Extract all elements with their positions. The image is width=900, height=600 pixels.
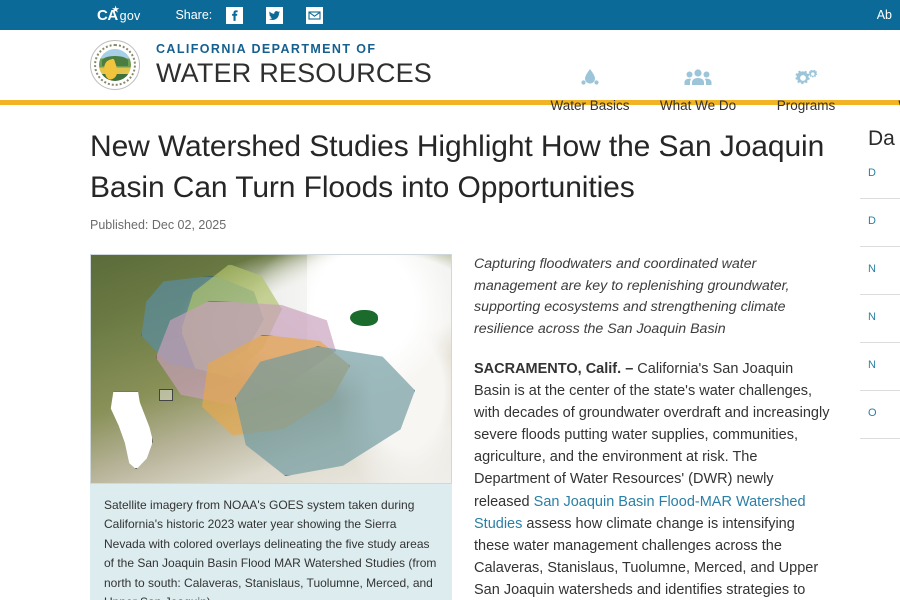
list-item-date: D — [868, 215, 900, 227]
sidebar-title: Da — [860, 127, 900, 151]
article-content: New Watershed Studies Highlight How the … — [0, 105, 860, 600]
nav-label-programs: Programs — [752, 98, 860, 113]
nav-item-programs[interactable]: Programs — [752, 66, 860, 113]
list-item-date: D — [868, 167, 900, 179]
article-text-column: Capturing floodwaters and coordinated wa… — [474, 254, 846, 600]
article-figure: Satellite imagery from NOAA's GOES syste… — [90, 254, 452, 600]
article-body: Satellite imagery from NOAA's GOES syste… — [90, 254, 860, 600]
list-item[interactable]: N — [860, 343, 900, 391]
list-item-date: N — [868, 263, 900, 275]
nav-item-water-basics[interactable]: Water Basics — [536, 66, 644, 113]
water-drop-icon — [536, 66, 644, 92]
lake-feature — [350, 310, 378, 326]
cagov-right-links: Ab — [869, 0, 900, 30]
site-brand-logo[interactable]: CALIFORNIA DEPARTMENT OF WATER RESOURCES — [90, 40, 432, 90]
figure-caption: Satellite imagery from NOAA's GOES syste… — [90, 484, 452, 600]
nav-label-what-we-do: What We Do — [644, 98, 752, 113]
cagov-gov-text: gov — [120, 9, 141, 23]
california-inset-highlight — [159, 389, 173, 401]
site-header: CALIFORNIA DEPARTMENT OF WATER RESOURCES… — [0, 30, 900, 100]
facebook-icon[interactable] — [226, 7, 243, 24]
main-navigation: Water Basics What We Do — [536, 66, 900, 113]
gears-icon — [752, 66, 860, 92]
cagov-star-icon: ★ — [112, 6, 119, 14]
brand-title-line: WATER RESOURCES — [156, 60, 432, 87]
about-link[interactable]: Ab — [869, 8, 900, 22]
list-item[interactable]: D — [860, 151, 900, 199]
published-date: Published: Dec 02, 2025 — [90, 218, 860, 232]
paragraph-1-after-link: assess how climate change is intensifyin… — [474, 516, 818, 600]
list-item[interactable]: O — [860, 391, 900, 439]
share-group: Share: — [175, 7, 346, 24]
email-icon[interactable] — [306, 7, 323, 24]
nav-label-water-basics: Water Basics — [536, 98, 644, 113]
cagov-logo[interactable]: CA★ gov — [97, 7, 140, 24]
list-item[interactable]: D — [860, 199, 900, 247]
water-drop-icon-secondary — [860, 66, 900, 92]
article-paragraph-1: SACRAMENTO, Calif. – California's San Jo… — [474, 358, 830, 600]
nav-item-working-with-us[interactable]: Work — [860, 66, 900, 113]
share-label: Share: — [175, 8, 212, 22]
list-item[interactable]: N — [860, 295, 900, 343]
sidebar-rail: Da D D N N N O — [860, 105, 900, 600]
page-body: New Watershed Studies Highlight How the … — [0, 105, 900, 600]
brand-department-line: CALIFORNIA DEPARTMENT OF — [156, 43, 432, 56]
article-lede: Capturing floodwaters and coordinated wa… — [474, 254, 830, 340]
paragraph-1-before-link: California's San Joaquin Basin is at the… — [474, 361, 829, 509]
article-dateline: SACRAMENTO, Calif. – — [474, 361, 633, 377]
cagov-wordmark: CA★ — [97, 7, 118, 24]
nav-item-what-we-do[interactable]: What We Do — [644, 66, 752, 113]
list-item[interactable]: N — [860, 247, 900, 295]
dwr-seal-icon — [90, 40, 140, 90]
cagov-utility-bar: CA★ gov Share: Ab — [0, 0, 900, 30]
california-inset-map — [109, 391, 153, 469]
brand-text: CALIFORNIA DEPARTMENT OF WATER RESOURCES — [156, 43, 432, 88]
seal-ring — [94, 44, 136, 86]
list-item-date: N — [868, 359, 900, 371]
list-item-date: N — [868, 311, 900, 323]
nav-label-working-with-us: Work — [860, 98, 900, 113]
watershed-map-image — [90, 254, 452, 484]
page-title: New Watershed Studies Highlight How the … — [90, 127, 830, 208]
list-item-date: O — [868, 407, 900, 419]
twitter-icon[interactable] — [266, 7, 283, 24]
people-group-icon — [644, 66, 752, 92]
